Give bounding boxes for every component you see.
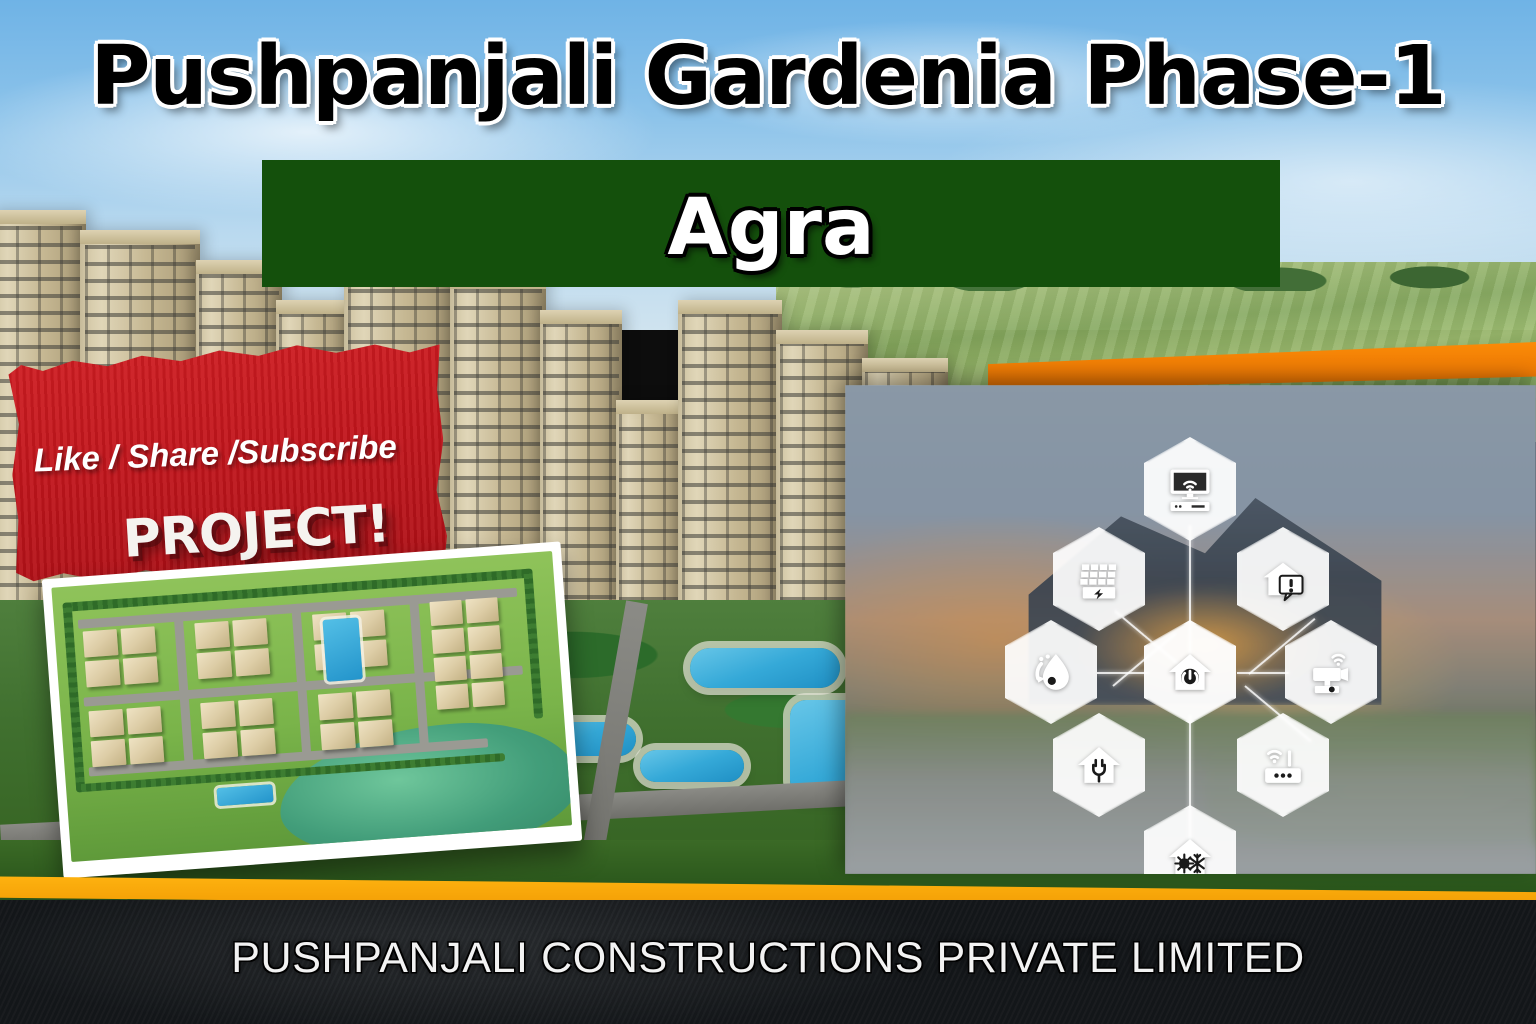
smart-tv-icon: [1164, 463, 1216, 515]
project-title-text: Pushpanjali Gardenia Phase-1: [90, 34, 1445, 120]
hex-node-home-power-plug[interactable]: [1053, 713, 1145, 817]
site-plan-pool: [216, 784, 273, 806]
site-layout-plan-card[interactable]: [42, 541, 583, 878]
city-name-text: Agra: [667, 183, 874, 273]
water-drop-recycle-icon: [1025, 646, 1077, 698]
security-camera-icon: [1305, 646, 1357, 698]
hex-node-smart-tv[interactable]: [1144, 437, 1236, 541]
smart-home-panel[interactable]: [845, 385, 1536, 874]
footer-bar: PUSHPANJALI CONSTRUCTIONS PRIVATE LIMITE…: [0, 900, 1536, 1024]
home-climate-icon: [1164, 831, 1216, 874]
company-name-text: PUSHPANJALI CONSTRUCTIONS PRIVATE LIMITE…: [231, 934, 1304, 983]
hex-node-home-hub[interactable]: [1144, 620, 1236, 724]
site-plan-image: [51, 551, 572, 862]
hex-network-diagram: [845, 385, 1536, 874]
site-plan-pool: [322, 617, 362, 681]
home-plug-icon: [1073, 739, 1125, 791]
connector-line: [1097, 672, 1149, 674]
connector-line: [1237, 672, 1289, 674]
home-power-icon: [1164, 646, 1216, 698]
city-banner: Agra: [262, 160, 1280, 287]
solar-panel-icon: [1073, 553, 1125, 605]
hex-node-solar-energy[interactable]: [1053, 527, 1145, 631]
thumbnail-canvas: Pushpanjali Gardenia Phase-1 Agra Like /…: [0, 0, 1536, 1024]
home-alert-icon: [1257, 553, 1309, 605]
promo-banner[interactable]: Like / Share /Subscribe PROJECT!: [8, 340, 448, 584]
page-title: Pushpanjali Gardenia Phase-1: [0, 34, 1536, 120]
hex-node-climate-control[interactable]: [1144, 805, 1236, 874]
hex-node-water-recycling[interactable]: [1005, 620, 1097, 724]
hex-node-wifi-router[interactable]: [1237, 713, 1329, 817]
wifi-router-icon: [1257, 739, 1309, 791]
hex-node-home-alert[interactable]: [1237, 527, 1329, 631]
hex-node-security-camera[interactable]: [1285, 620, 1377, 724]
